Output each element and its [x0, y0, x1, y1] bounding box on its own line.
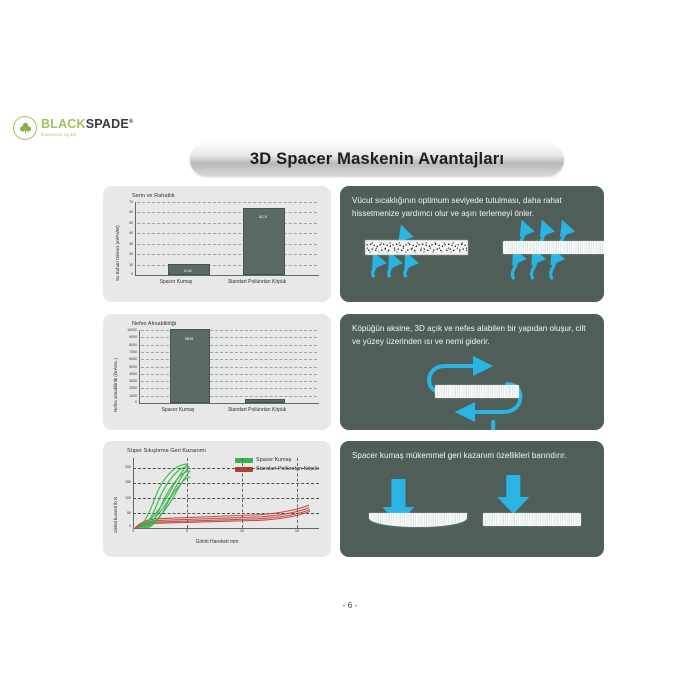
plot-area: 70 60 50 40 30 20 10 0 8,92 62,5: [135, 202, 319, 276]
bar-value: 9815: [170, 337, 208, 341]
chart-breathability: Nefes Alınabilirliği Nefes alınabilirlik…: [103, 314, 331, 430]
chart-title: Serin ve Rahatlık: [132, 193, 175, 199]
gridline: [137, 223, 317, 224]
bar-value: 62,5: [243, 215, 283, 219]
series-paths: [133, 458, 319, 529]
slide-page: BLACKSPADE® Kusursuz uyum 3D Spacer Mask…: [0, 0, 700, 700]
y-tick: 7000: [118, 350, 137, 354]
gridline: [137, 233, 317, 234]
y-tick: 1000: [118, 394, 137, 398]
y-tick: 70: [119, 200, 133, 204]
y-tick: 0: [118, 400, 137, 404]
brand-word-a: BLACK: [41, 117, 86, 131]
y-tick: 0: [119, 272, 133, 276]
chart-water-vapour-resistance: Serin ve Rahatlık Su Buharı Direnci (m²P…: [103, 186, 331, 302]
x-category-label: Standart Poliüretan Köpük: [215, 279, 299, 285]
y-tick: 100: [120, 496, 131, 500]
y-tick: 10000: [118, 328, 137, 332]
gridline: [141, 388, 317, 389]
bar-value: 8,92: [168, 269, 208, 273]
gridline: [141, 337, 317, 338]
y-tick: 50: [120, 511, 131, 515]
x-category-label: Spacer Kumaş: [139, 279, 213, 285]
y-tick: 8000: [118, 343, 137, 347]
x-axis: [135, 275, 319, 276]
chart-y-axis-label: Girinti kuvveti lb N: [113, 497, 118, 533]
x-tick: 5: [181, 529, 193, 533]
y-tick: 30: [119, 242, 133, 246]
y-axis: [135, 202, 136, 276]
clover-icon: [13, 116, 37, 140]
brand-word-b: SPADE: [86, 117, 129, 131]
gridline: [141, 352, 317, 353]
y-tick: 60: [119, 210, 133, 214]
y-tick: 4000: [118, 372, 137, 376]
chart-title: Nefes Alınabilirliği: [132, 321, 176, 327]
panel-blurb: Spacer kumaş mükemmel geri kazanım özell…: [352, 450, 595, 463]
gridline: [137, 212, 317, 213]
page-title: 3D Spacer Maskenin Avantajları: [250, 150, 504, 169]
foam-slab: [365, 240, 468, 255]
chart-x-axis-label: Girinti Hareketi mm: [103, 539, 331, 545]
row-breathability: Nefes Alınabilirliği Nefes alınabilirlik…: [103, 314, 604, 430]
page-number: - 6 -: [0, 600, 700, 610]
gridline: [141, 396, 317, 397]
info-panel-cooling: Vücut sıcaklığının optimum seviyede tutu…: [340, 186, 604, 302]
y-tick: 200: [120, 465, 131, 469]
y-tick: 9000: [118, 335, 137, 339]
x-category-label: Standart Poliüretan Köpük: [215, 407, 299, 413]
y-axis: [139, 330, 140, 404]
bar-foam: [245, 399, 285, 403]
airflow-circulation-arrows: [340, 336, 604, 430]
brand-logo: BLACKSPADE® Kusursuz uyum: [13, 116, 134, 140]
y-tick: 50: [119, 221, 133, 225]
y-tick: 40: [119, 231, 133, 235]
row-recovery: Süper Sıkıştırma Geri Kazanımı Girinti k…: [103, 441, 604, 557]
foam-vs-spacer-vapour-arrows: [340, 214, 604, 302]
gridline: [141, 381, 317, 382]
brand-wordmark: BLACKSPADE®: [41, 118, 134, 131]
compression-recovery-arrows: [340, 463, 604, 557]
gridline: [137, 265, 317, 266]
x-tick: 10: [236, 529, 248, 533]
y-tick: 20: [119, 252, 133, 256]
gridline: [141, 367, 317, 368]
brand-tagline: Kusursuz uyum: [41, 133, 134, 138]
gridline: [141, 359, 317, 360]
plot-area: 200 150 100 50 0: [133, 458, 319, 529]
y-tick: 10: [119, 263, 133, 267]
info-panel-recovery: Spacer kumaş mükemmel geri kazanım özell…: [340, 441, 604, 557]
row-cooling: Serin ve Rahatlık Su Buharı Direnci (m²P…: [103, 186, 604, 302]
page-title-banner: 3D Spacer Maskenin Avantajları: [190, 143, 564, 176]
gridline: [137, 202, 317, 203]
gridline: [141, 330, 317, 331]
info-panel-breathability: Köpüğün aksine, 3D açık ve nefes alabile…: [340, 314, 604, 430]
gridline: [141, 374, 317, 375]
chart-title: Süper Sıkıştırma Geri Kazanımı: [127, 448, 206, 454]
spacer-slab: [503, 241, 604, 254]
gridline: [137, 254, 317, 255]
x-tick: 15: [291, 529, 303, 533]
brand-trademark: ®: [129, 119, 134, 125]
y-tick: 3000: [118, 379, 137, 383]
plot-area: 10000 9000 8000 7000 6000 5000 4000 3000…: [139, 330, 319, 404]
y-tick: 150: [120, 480, 131, 484]
x-axis: [139, 403, 319, 404]
y-tick: 5000: [118, 365, 137, 369]
x-category-label: Spacer Kumaş: [141, 407, 215, 413]
y-tick: 6000: [118, 357, 137, 361]
gridline: [137, 244, 317, 245]
gridline: [141, 345, 317, 346]
x-tick: 0: [127, 529, 139, 533]
chart-compression-recovery: Süper Sıkıştırma Geri Kazanımı Girinti k…: [103, 441, 331, 557]
recovered-slab: [483, 513, 581, 526]
spacer-slab: [435, 385, 519, 398]
y-tick: 2000: [118, 386, 137, 390]
y-tick: 0: [120, 524, 131, 528]
